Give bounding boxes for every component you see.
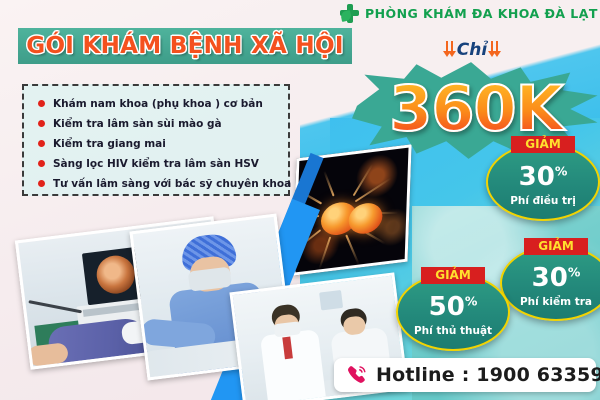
list-item: Sàng lọc HIV kiểm tra lâm sàn HSV: [34, 154, 278, 173]
promo-banner: PHÒNG KHÁM ĐA KHOA ĐÀ LẠT GÓI KHÁM BỆNH …: [0, 0, 600, 400]
discount-label: GIẢM: [421, 267, 485, 284]
discount-label: GIẢM: [511, 136, 575, 153]
list-item: Khám nam khoa (phụ khoa ) cơ bản: [34, 94, 278, 113]
bullet-icon: [38, 100, 45, 107]
discount-caption: Phí kiểm tra: [502, 296, 600, 308]
bullet-icon: [38, 140, 45, 147]
hotline-bar[interactable]: Hotline : 1900 633598: [334, 358, 596, 392]
clinic-header: PHÒNG KHÁM ĐA KHOA ĐÀ LẠT: [340, 2, 598, 24]
discount-value: 50%: [398, 294, 508, 320]
list-item-label: Sàng lọc HIV kiểm tra lâm sàn HSV: [53, 158, 259, 170]
list-item-label: Tư vấn lâm sàng với bác sỹ chuyên khoa: [53, 178, 291, 190]
price-prefix-row: Chỉ: [392, 38, 552, 62]
promo-title-bar: GÓI KHÁM BỆNH XÃ HỘI: [18, 28, 352, 64]
phone-icon: [346, 364, 368, 386]
discount-value: 30%: [502, 265, 600, 291]
bullet-icon: [38, 180, 45, 187]
page-title: GÓI KHÁM BỆNH XÃ HỘI: [26, 33, 343, 59]
list-item-label: Kiểm tra lâm sàn sùi mào gà: [53, 118, 222, 130]
discount-label: GIẢM: [524, 238, 588, 255]
services-list: Khám nam khoa (phụ khoa ) cơ bản Kiểm tr…: [22, 84, 290, 196]
clinic-name: PHÒNG KHÁM ĐA KHOA ĐÀ LẠT: [365, 6, 598, 21]
list-item: Tư vấn lâm sàng với bác sỹ chuyên khoa: [34, 174, 278, 193]
list-item-label: Kiểm tra giang mai: [53, 138, 166, 150]
hotline-text: Hotline : 1900 633598: [376, 364, 600, 386]
discount-value: 30%: [488, 164, 598, 190]
discount-badge-procedure: GIẢM 50% Phí thủ thuật: [396, 273, 510, 351]
discount-badge-checkup: GIẢM 30% Phí kiểm tra: [500, 245, 600, 321]
list-item: Kiểm tra lâm sàn sùi mào gà: [34, 114, 278, 133]
medical-cross-icon: [340, 4, 359, 23]
discount-caption: Phí điều trị: [488, 195, 598, 207]
discount-badge-treatment: GIẢM 30% Phí điều trị: [486, 143, 600, 221]
list-item-label: Khám nam khoa (phụ khoa ) cơ bản: [53, 98, 263, 110]
list-item: Kiểm tra giang mai: [34, 134, 278, 153]
bullet-icon: [38, 160, 45, 167]
bullet-icon: [38, 120, 45, 127]
price-prefix: Chỉ: [457, 40, 487, 60]
discount-caption: Phí thủ thuật: [398, 325, 508, 337]
